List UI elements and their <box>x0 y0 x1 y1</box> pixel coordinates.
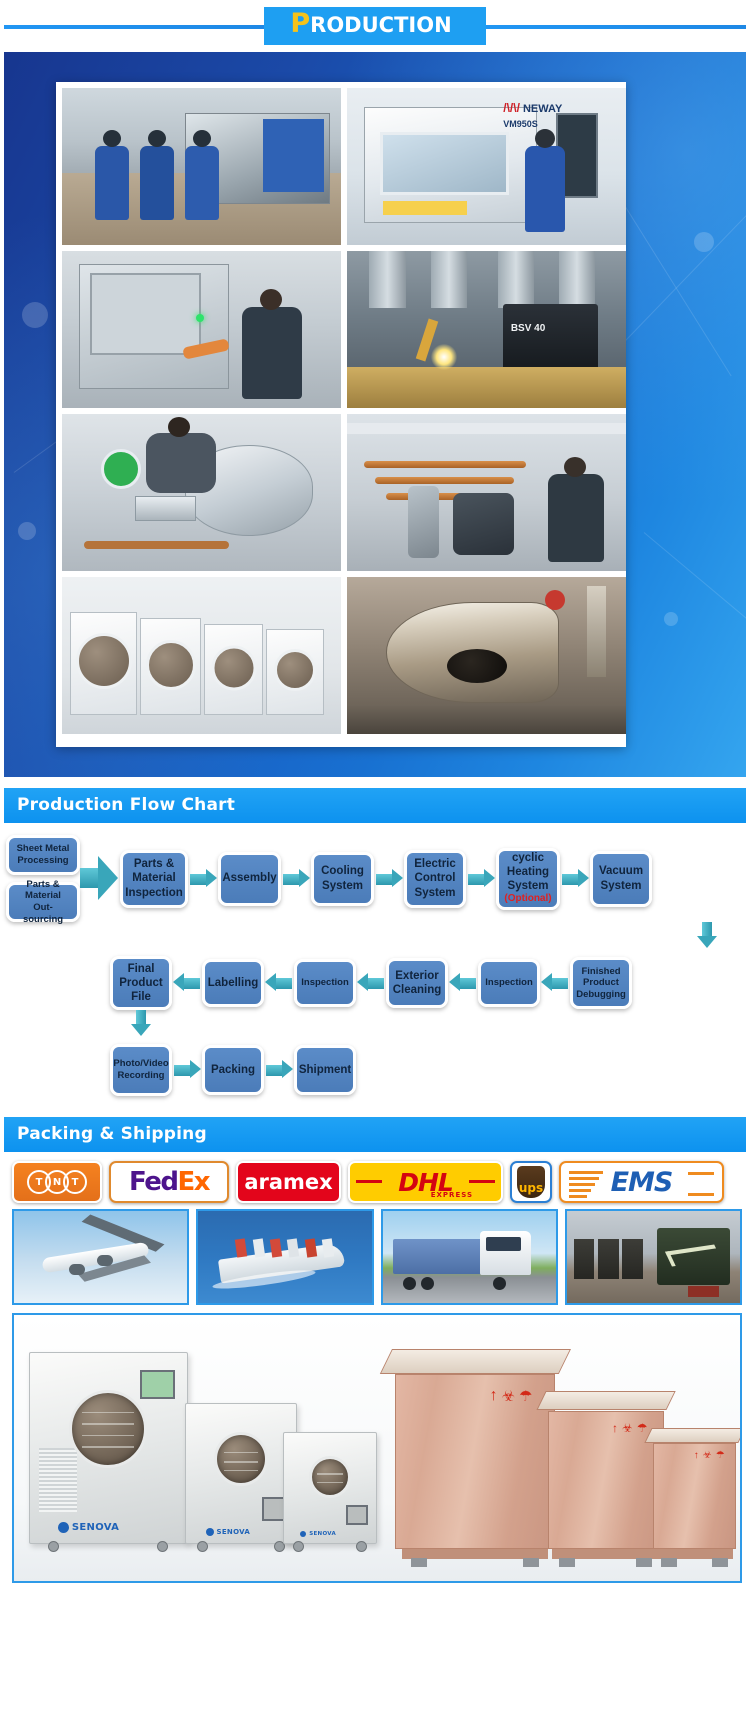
shipping-crate-small: ↑ ☣ ☂ <box>653 1443 736 1549</box>
engineer-figure <box>548 474 604 562</box>
flow-box-cooling-system[interactable]: Cooling System <box>311 852 374 906</box>
flow-arrow-right <box>264 1061 294 1079</box>
senova-wordmark: SENOVA <box>217 1528 251 1536</box>
brand-mark: SENOVA <box>58 1522 119 1533</box>
pressure-gauge <box>101 449 141 489</box>
operator-figure <box>525 146 565 232</box>
red-valve <box>545 590 565 610</box>
dhl-express-label: EXPRESS <box>431 1191 473 1199</box>
photo-technician-control-cabinet <box>62 251 341 408</box>
transport-road-freight <box>381 1209 558 1305</box>
keep-dry-icon: ☂ <box>519 1389 532 1404</box>
workshop-floor <box>347 706 626 734</box>
truck-trailer <box>393 1239 483 1274</box>
flow-row-2: Final Product File Labelling Inspection … <box>6 956 744 1010</box>
freeze-dryer-medium: SENOVA <box>185 1403 298 1544</box>
worker-figure <box>95 146 129 220</box>
photo-plasma-cutting-welding: BSV 40 <box>347 251 626 408</box>
ems-stripe <box>569 1183 595 1186</box>
flow-arrow-left <box>264 974 294 992</box>
copper-pipe <box>364 461 526 468</box>
photo-large-stainless-vacuum-vessel <box>347 577 626 734</box>
caster-wheel <box>356 1541 367 1552</box>
flow-arrow-right <box>80 856 120 902</box>
fedex-fed: Fed <box>129 1167 177 1197</box>
this-side-up-icon: ↑ <box>490 1388 498 1404</box>
packing-product-photo-panel: SENOVA SENOVA <box>12 1313 742 1583</box>
plywood-shipping-crates: ↑ ☣ ☂ ↑ ☣ ☂ ↑ ☣ ☂ <box>377 1315 740 1581</box>
flow-box-shipment[interactable]: Shipment <box>294 1045 356 1095</box>
crate-foot <box>559 1558 575 1567</box>
shipping-crate-medium: ↑ ☣ ☂ <box>548 1411 664 1549</box>
cabinet-unit <box>140 618 201 715</box>
flow-box-inspection-1[interactable]: Inspection <box>478 959 540 1007</box>
decor-line <box>614 208 746 353</box>
ems-stripe <box>569 1195 587 1198</box>
neway-model-label: VM950S <box>503 119 538 129</box>
flow-box-label: cyclic Heating System <box>504 851 552 893</box>
plane-engine <box>69 1264 85 1275</box>
technician-figure <box>242 307 302 399</box>
flow-arrow-right <box>281 870 311 888</box>
steel-plate <box>347 367 626 408</box>
cabinet-unit <box>204 624 263 715</box>
transport-mode-row <box>0 1209 750 1313</box>
flow-down-connector-2 <box>6 1010 744 1040</box>
drum-neck <box>135 496 196 521</box>
control-display <box>140 1370 175 1398</box>
crate-foot <box>661 1558 677 1567</box>
courier-logo-row: T N T FedEx aramex DHL EXPRESS ups EMS <box>0 1152 750 1209</box>
flow-arrow-left <box>356 974 386 992</box>
chamber-door <box>214 1432 268 1486</box>
fragile-icon: ☣ <box>622 1422 633 1434</box>
decor-dot <box>664 612 678 626</box>
chamber-door <box>69 1390 147 1468</box>
flow-start-group: Sheet Metal Processing Parts & Material … <box>6 835 80 922</box>
freight-car <box>598 1239 619 1279</box>
shipping-container <box>287 1238 299 1257</box>
flow-box-photo-video-recording[interactable]: Photo/Video Recording <box>110 1044 172 1096</box>
caster-wheel <box>157 1541 168 1552</box>
banner-title: RODUCTION <box>310 13 451 37</box>
freight-car <box>622 1239 643 1279</box>
truck-wheel <box>403 1277 416 1290</box>
senova-freeze-dryer-lineup: SENOVA SENOVA <box>14 1315 377 1581</box>
flow-box-exterior-cleaning[interactable]: Exterior Cleaning <box>386 958 448 1008</box>
flow-box-parts-material-outsourcing[interactable]: Parts & Material Out-sourcing <box>6 882 80 922</box>
caster-wheel <box>293 1541 304 1552</box>
decor-dot <box>22 302 48 328</box>
banner-initial: P <box>290 8 310 39</box>
banner-rule-right <box>486 25 746 29</box>
photo-finished-white-cabinets-row <box>62 577 341 734</box>
section-title-flow-chart: Production Flow Chart <box>4 788 746 823</box>
worker-figure <box>146 433 216 493</box>
flow-arrow-left <box>540 974 570 992</box>
handling-marks: ↑ ☣ ☂ <box>490 1388 533 1404</box>
courier-logo-dhl: DHL EXPRESS <box>348 1161 503 1203</box>
flow-box-packing[interactable]: Packing <box>202 1045 264 1095</box>
crate-foot <box>712 1558 728 1567</box>
photo-neway-vm950s-cnc-mill: /\/\/ NEWAY VM950S <box>347 88 626 245</box>
shipping-container <box>304 1238 316 1257</box>
ems-stripe <box>569 1171 603 1174</box>
copper-pipe <box>84 541 229 549</box>
ems-stripe <box>569 1177 599 1180</box>
transport-sea-freight <box>196 1209 373 1305</box>
crate-lid <box>380 1349 571 1374</box>
worker-figure <box>140 146 174 220</box>
truck-windshield <box>486 1237 521 1252</box>
flow-arrow-right <box>560 870 590 888</box>
banner-rule-left <box>4 25 264 29</box>
crate-lid <box>644 1428 742 1443</box>
mill-sticker <box>383 201 467 215</box>
decor-dot <box>694 232 714 252</box>
flow-down-connector-1 <box>6 922 744 952</box>
fragile-icon: ☣ <box>502 1389 515 1404</box>
crate-foot <box>411 1558 427 1567</box>
flow-arrow-down <box>698 922 716 952</box>
production-banner: PRODUCTION <box>0 0 750 52</box>
flow-box-labelling[interactable]: Labelling <box>202 959 264 1007</box>
chamber-door <box>309 1456 351 1498</box>
chamber-door <box>274 649 316 691</box>
worker-figure <box>185 146 219 220</box>
compressor-unit <box>453 493 514 556</box>
cabinet-door <box>90 273 202 355</box>
ups-shield: ups <box>517 1166 545 1198</box>
vessel-stack <box>587 586 607 677</box>
gallery-grid: /\/\/ NEWAY VM950S BSV 40 <box>56 82 626 747</box>
flow-box-inspection-2[interactable]: Inspection <box>294 959 356 1007</box>
flow-arrow-right <box>188 870 218 888</box>
courier-logo-ems: EMS <box>559 1161 724 1203</box>
flow-arrow-left <box>172 974 202 992</box>
photo-vacuum-drum-assembly <box>62 414 341 571</box>
caster-wheel <box>48 1541 59 1552</box>
tnt-letter: T <box>63 1170 87 1194</box>
shipping-crate-large: ↑ ☣ ☂ <box>395 1374 555 1550</box>
truck-wheel <box>493 1277 506 1290</box>
ems-wordmark: EMS <box>611 1167 673 1198</box>
crate-lid <box>536 1391 676 1410</box>
senova-wordmark: SENOVA <box>309 1531 336 1537</box>
ems-stripe <box>569 1189 591 1192</box>
vacuum-pump-label: BSV 40 <box>511 323 545 334</box>
shipping-container <box>270 1238 282 1257</box>
shipping-container <box>252 1238 264 1257</box>
control-display <box>346 1505 367 1525</box>
weld-spark <box>431 344 457 370</box>
senova-logo-icon <box>206 1528 214 1536</box>
flow-box-electric-control-system[interactable]: Electric Control System <box>404 850 466 908</box>
handling-marks: ↑ ☣ ☂ <box>612 1422 648 1434</box>
status-led <box>196 314 204 322</box>
ems-stripe <box>688 1172 714 1175</box>
this-side-up-icon: ↑ <box>612 1422 618 1434</box>
neway-brand-label: /\/\/ NEWAY <box>503 101 562 115</box>
section-title-packing-shipping: Packing & Shipping <box>4 1117 746 1152</box>
courier-logo-aramex: aramex <box>236 1161 341 1203</box>
duct-pipe <box>498 251 534 308</box>
dhl-bar <box>356 1180 382 1183</box>
transport-air-freight <box>12 1209 189 1305</box>
brand-mark: SENOVA <box>300 1531 336 1537</box>
flow-arrow-right <box>466 870 496 888</box>
flow-box-optional-note: (Optional) <box>504 893 551 905</box>
duct-pipe <box>431 251 467 308</box>
flow-box-parts-material-inspection[interactable]: Parts & Material Inspection <box>120 850 188 908</box>
vacuum-pump-unit: BSV 40 <box>503 304 598 376</box>
shipping-container <box>235 1238 247 1257</box>
keep-dry-icon: ☂ <box>637 1422 648 1434</box>
flow-arrow-right <box>172 1061 202 1079</box>
flow-box-vacuum-system[interactable]: Vacuum System <box>590 851 652 907</box>
fragile-icon: ☣ <box>703 1451 712 1461</box>
senova-logo-icon <box>300 1531 306 1537</box>
fedex-ex: Ex <box>177 1167 209 1197</box>
caster-wheel <box>197 1541 208 1552</box>
crate-foot <box>636 1558 652 1567</box>
chamber-door <box>211 645 256 690</box>
senova-logo-icon <box>58 1522 69 1533</box>
decor-line <box>644 532 746 648</box>
truck-wheel <box>421 1277 434 1290</box>
photo-refrigeration-piping-assembly <box>347 414 626 571</box>
shipping-container <box>322 1238 334 1257</box>
handling-marks: ↑ ☣ ☂ <box>694 1451 725 1461</box>
production-photo-gallery: /\/\/ NEWAY VM950S BSV 40 <box>4 52 746 777</box>
keep-dry-icon: ☂ <box>716 1451 725 1461</box>
courier-logo-tnt: T N T <box>12 1161 102 1203</box>
flow-arrow-down <box>132 1010 150 1040</box>
senova-wordmark: SENOVA <box>72 1522 119 1533</box>
chamber-door <box>76 633 132 689</box>
banner-chip: PRODUCTION <box>264 7 485 45</box>
duct-pipe <box>559 251 595 308</box>
ems-stripe <box>688 1193 714 1196</box>
courier-logo-fedex: FedEx <box>109 1161 229 1203</box>
cabinet-unit <box>70 612 137 716</box>
production-flow-chart: Sheet Metal Processing Parts & Material … <box>0 823 750 1106</box>
courier-logo-ups: ups <box>510 1161 552 1203</box>
copper-pipe <box>375 477 515 484</box>
flow-box-cyclic-heating-system[interactable]: cyclic Heating System (Optional) <box>496 848 560 910</box>
flow-arrow-right <box>374 870 404 888</box>
plane-engine <box>97 1255 113 1266</box>
freeze-dryer-large: SENOVA <box>29 1352 189 1544</box>
flow-row-1: Sheet Metal Processing Parts & Material … <box>6 835 744 922</box>
duct-pipe <box>369 251 405 308</box>
chamber-door <box>146 640 196 690</box>
this-side-up-icon: ↑ <box>694 1451 699 1461</box>
flow-box-assembly[interactable]: Assembly <box>218 852 281 906</box>
condenser-vents <box>39 1448 77 1512</box>
ceiling-beam <box>347 423 626 434</box>
transport-rail-freight <box>565 1209 742 1305</box>
flow-box-final-product-file[interactable]: Final Product File <box>110 956 172 1010</box>
brand-mark: SENOVA <box>206 1528 251 1536</box>
photo-cnc-lathe-workshop-workers <box>62 88 341 245</box>
freeze-dryer-small: SENOVA <box>283 1432 377 1544</box>
lathe-panel <box>263 119 324 191</box>
flow-box-finished-product-debugging[interactable]: Finished Product Debugging <box>570 957 632 1009</box>
freight-car <box>574 1239 595 1279</box>
dhl-bar <box>469 1180 495 1183</box>
decor-dot <box>18 522 36 540</box>
receiver-tank <box>408 486 439 558</box>
flow-arrow-left <box>448 974 478 992</box>
locomotive-plow <box>688 1286 719 1297</box>
cabinet-unit <box>266 629 325 715</box>
crate-foot <box>523 1558 539 1567</box>
flow-box-sheet-metal-processing[interactable]: Sheet Metal Processing <box>6 835 80 875</box>
flow-row-3: Photo/Video Recording Packing Shipment <box>6 1044 744 1096</box>
mill-window <box>380 132 508 195</box>
